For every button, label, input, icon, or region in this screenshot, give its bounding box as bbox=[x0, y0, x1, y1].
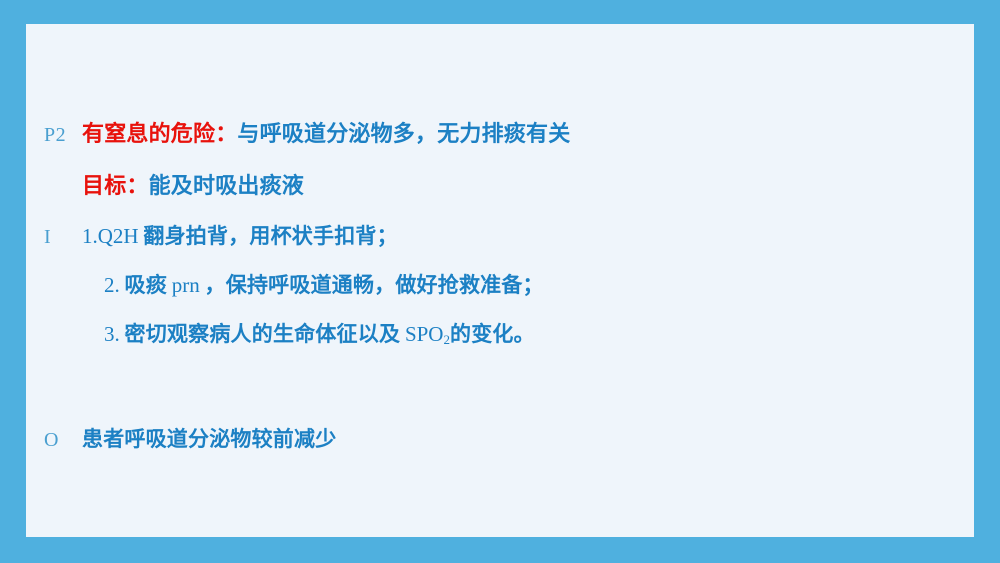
intervention-1-text: 翻身拍背，用杯状手扣背； bbox=[143, 225, 397, 248]
vertical-spacer bbox=[44, 367, 964, 423]
intervention-2-line: 2.吸痰prn，保持呼吸道通畅，做好抢救准备； bbox=[44, 269, 964, 299]
intervention-marker: I bbox=[44, 226, 82, 249]
intervention-3-latin: SPO2 bbox=[405, 322, 450, 346]
spo2-subscript: 2 bbox=[443, 332, 450, 347]
goal-body: 目标：能及时吸出痰液 bbox=[82, 168, 304, 200]
spo2-base: SPO bbox=[405, 322, 444, 346]
intervention-2-text-before: 吸痰 bbox=[125, 274, 167, 297]
problem-body: 有窒息的危险：与呼吸道分泌物多，无力排痰有关 bbox=[82, 116, 570, 148]
problem-detail: 与呼吸道分泌物多，无力排痰有关 bbox=[237, 121, 570, 146]
intervention-3-line: 3.密切观察病人的生命体征以及SPO2的变化。 bbox=[44, 318, 964, 348]
problem-label: 有窒息的危险： bbox=[82, 121, 237, 146]
intervention-3-body: 3.密切观察病人的生命体征以及SPO2的变化。 bbox=[82, 318, 535, 348]
intervention-3-text-after: 的变化。 bbox=[450, 323, 535, 346]
goal-label: 目标： bbox=[82, 173, 149, 198]
intervention-2-text-after: ，保持呼吸道通畅，做好抢救准备； bbox=[205, 274, 544, 297]
problem-marker: P2 bbox=[44, 124, 82, 147]
intervention-3-text-before: 密切观察病人的生命体征以及 bbox=[125, 323, 401, 346]
intervention-1-body: 1.Q2H翻身拍背，用杯状手扣背； bbox=[82, 220, 398, 250]
intervention-2-latin: prn bbox=[172, 273, 200, 297]
intervention-2-number: 2. bbox=[104, 273, 120, 297]
goal-line: 目标：能及时吸出痰液 bbox=[44, 168, 964, 200]
slide-panel: P2 有窒息的危险：与呼吸道分泌物多，无力排痰有关 目标：能及时吸出痰液 I 1… bbox=[26, 24, 974, 537]
problem-line: P2 有窒息的危险：与呼吸道分泌物多，无力排痰有关 bbox=[44, 116, 964, 148]
slide-canvas: P2 有窒息的危险：与呼吸道分泌物多，无力排痰有关 目标：能及时吸出痰液 I 1… bbox=[0, 0, 1000, 563]
outcome-body: 患者呼吸道分泌物较前减少 bbox=[82, 423, 336, 453]
outcome-marker: O bbox=[44, 429, 82, 452]
outcome-text: 患者呼吸道分泌物较前减少 bbox=[82, 428, 336, 451]
intervention-1-line: I 1.Q2H翻身拍背，用杯状手扣背； bbox=[44, 220, 964, 250]
slide-content: P2 有窒息的危险：与呼吸道分泌物多，无力排痰有关 目标：能及时吸出痰液 I 1… bbox=[44, 116, 964, 453]
intervention-3-number: 3. bbox=[104, 322, 120, 346]
goal-detail: 能及时吸出痰液 bbox=[149, 173, 304, 198]
outcome-line: O 患者呼吸道分泌物较前减少 bbox=[44, 423, 964, 453]
intervention-1-latin: Q2H bbox=[98, 224, 139, 248]
intervention-1-number: 1. bbox=[82, 224, 98, 248]
intervention-2-body: 2.吸痰prn，保持呼吸道通畅，做好抢救准备； bbox=[82, 269, 544, 299]
